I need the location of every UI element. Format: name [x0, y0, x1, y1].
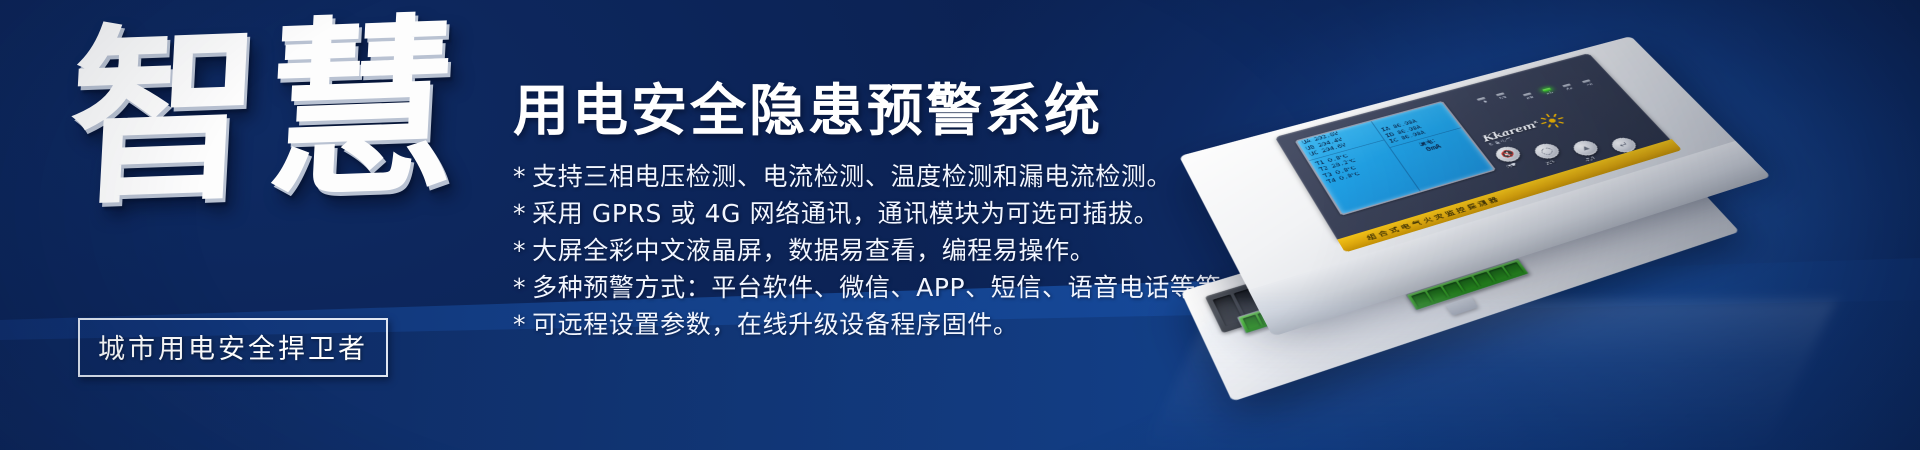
tagline-text: 城市用电安全捍卫者 — [98, 327, 368, 366]
led-label: 运行 — [1545, 90, 1555, 95]
feature-text: 大屏全彩中文液晶屏，数据易查看，编程易操作。 — [532, 236, 1095, 265]
reset-button-label: 复位 — [1545, 159, 1557, 166]
calligraphy-text: 智慧 — [65, 11, 476, 215]
bullet-marker-icon: * — [513, 310, 526, 339]
confirm-button[interactable]: ↵ — [1608, 136, 1640, 155]
reset-icon: ◯ — [1539, 147, 1555, 156]
enter-arrow-icon: ↵ — [1617, 141, 1630, 149]
device-body: 电源 信号 报警 输出 测量 输入 A — [1179, 36, 1756, 317]
led-label: 预警 — [1525, 95, 1535, 100]
led-label: 汇集 — [1479, 100, 1489, 105]
triangle-up-icon: ▲ — [1578, 144, 1593, 153]
calligraphy-block: 智慧 — [70, 18, 470, 308]
led-indicator: 预警 — [1523, 92, 1536, 100]
feature-text: 可远程设置参数，在线升级设备程序固件。 — [532, 310, 1018, 339]
feature-text: 支持三相电压检测、电流检测、温度检测和漏电流检测。 — [532, 162, 1172, 191]
led-label: 通讯 — [1565, 86, 1575, 91]
led-indicator: 故障 — [1496, 92, 1508, 100]
promo-banner: 智慧 城市用电安全捍卫者 用电安全隐患预警系统 *支持三相电压检测、电流检测、温… — [0, 0, 1920, 450]
led-label: 消音 — [1584, 82, 1594, 87]
led-indicator: 汇集 — [1477, 97, 1489, 105]
led-indicator: 消音 — [1582, 79, 1595, 87]
bullet-marker-icon: * — [513, 236, 526, 265]
led-indicator-running: 运行 — [1542, 88, 1555, 96]
product-image: 电源 信号 报警 输出 测量 输入 A — [1120, 0, 1920, 450]
increment-button[interactable]: ▲ — [1570, 138, 1602, 157]
tagline-box: 城市用电安全捍卫者 — [78, 318, 388, 377]
bullet-marker-icon: * — [513, 199, 526, 228]
bullet-marker-icon: * — [513, 162, 526, 191]
led-indicator: 通讯 — [1562, 83, 1575, 91]
feature-text: 采用 GPRS 或 4G 网络通讯，通讯模块为可选可插拔。 — [532, 199, 1159, 228]
mute-icon: 🔇 — [1499, 149, 1516, 159]
led-label: 故障 — [1498, 95, 1508, 100]
increment-button-label: 增加 — [1584, 156, 1596, 163]
bullet-marker-icon: * — [513, 273, 526, 302]
